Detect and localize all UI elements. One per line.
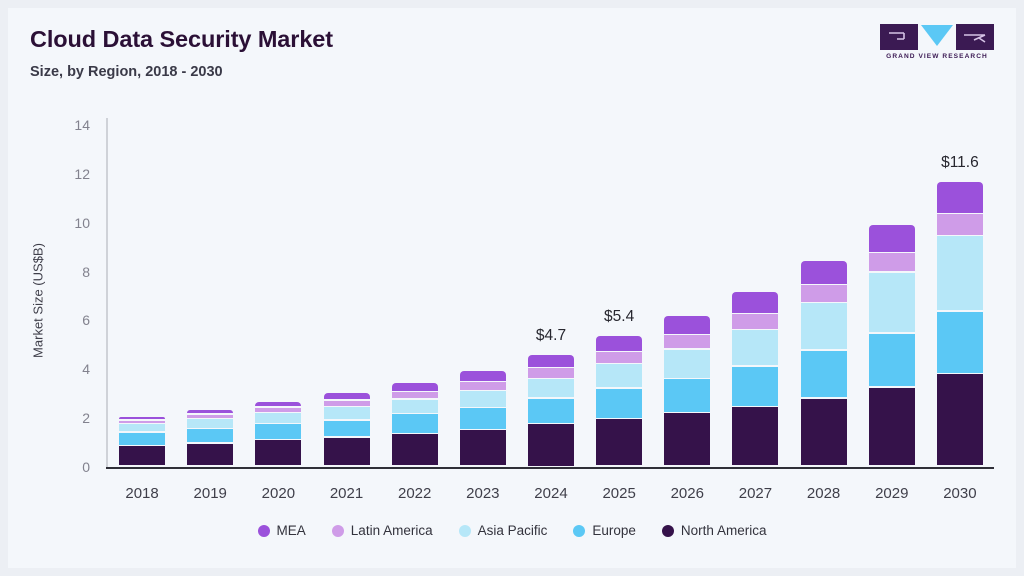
legend-item[interactable]: Latin America xyxy=(332,523,433,538)
bar-segment[interactable] xyxy=(937,182,983,212)
bar-segment[interactable] xyxy=(937,236,983,310)
x-tick-label: 2023 xyxy=(449,485,517,502)
bar-segment[interactable] xyxy=(937,214,983,234)
chart-plot-area: Market Size (US$B) 02468101214 201820192… xyxy=(8,8,1016,568)
bar-segment[interactable] xyxy=(392,434,438,465)
bar-segment[interactable] xyxy=(869,334,915,386)
x-axis-line xyxy=(106,467,994,469)
bar-total-label: $11.6 xyxy=(910,154,1010,172)
chart-card: Cloud Data Security Market Size, by Regi… xyxy=(8,8,1016,568)
bar-segment[interactable] xyxy=(732,407,778,465)
bar-segment[interactable] xyxy=(187,419,233,427)
bar-segment[interactable] xyxy=(119,433,165,445)
bar-stack[interactable] xyxy=(664,8,710,467)
bar-stack[interactable] xyxy=(255,8,301,467)
bar-stack[interactable] xyxy=(732,8,778,467)
bar-segment[interactable] xyxy=(596,352,642,363)
y-axis-label: Market Size (US$B) xyxy=(31,211,46,391)
x-tick-label: 2027 xyxy=(721,485,789,502)
x-tick-label: 2026 xyxy=(653,485,721,502)
legend-item[interactable]: MEA xyxy=(258,523,306,538)
bar-segment[interactable] xyxy=(255,424,301,438)
bar-segment[interactable] xyxy=(528,355,574,367)
y-tick-label: 6 xyxy=(56,312,90,328)
bar-segment[interactable] xyxy=(528,368,574,377)
bar-segment[interactable] xyxy=(187,429,233,442)
bar-segment[interactable] xyxy=(528,379,574,397)
bar-segment[interactable] xyxy=(801,303,847,349)
bar-segment[interactable] xyxy=(732,330,778,365)
bar-segment[interactable] xyxy=(255,440,301,465)
bar-segment[interactable] xyxy=(664,335,710,348)
bar-segment[interactable] xyxy=(732,292,778,312)
x-tick-label: 2021 xyxy=(312,485,380,502)
bar-segment[interactable] xyxy=(119,446,165,465)
bar-segment[interactable] xyxy=(255,413,301,422)
x-tick-label: 2029 xyxy=(858,485,926,502)
legend-swatch-icon xyxy=(258,525,270,537)
bar-segment[interactable] xyxy=(392,400,438,413)
bar-stack[interactable] xyxy=(460,8,506,467)
bar-segment[interactable] xyxy=(732,367,778,406)
bar-segment[interactable] xyxy=(119,424,165,431)
bar-segment[interactable] xyxy=(664,379,710,412)
bar-segment[interactable] xyxy=(801,261,847,284)
bar-segment[interactable] xyxy=(664,413,710,465)
legend-label: MEA xyxy=(277,523,306,538)
legend-item[interactable]: Europe xyxy=(573,523,636,538)
bar-segment[interactable] xyxy=(596,364,642,387)
bar-segment[interactable] xyxy=(732,314,778,328)
bar-segment[interactable] xyxy=(187,444,233,466)
bar-segment[interactable] xyxy=(392,392,438,398)
y-tick-label: 12 xyxy=(56,166,90,182)
bar-segment[interactable] xyxy=(937,374,983,465)
bar-segment[interactable] xyxy=(324,421,370,437)
x-tick-label: 2030 xyxy=(926,485,994,502)
bar-segment[interactable] xyxy=(664,316,710,334)
bar-segment[interactable] xyxy=(392,414,438,432)
legend-swatch-icon xyxy=(573,525,585,537)
bar-segment[interactable] xyxy=(324,393,370,399)
y-tick-label: 8 xyxy=(56,264,90,280)
y-tick-label: 4 xyxy=(56,361,90,377)
bar-segment[interactable] xyxy=(460,391,506,407)
bar-stack[interactable] xyxy=(596,8,642,467)
legend-item[interactable]: Asia Pacific xyxy=(459,523,548,538)
bar-segment[interactable] xyxy=(528,399,574,423)
bar-segment[interactable] xyxy=(801,285,847,302)
bar-segment[interactable] xyxy=(801,399,847,466)
bar-segment[interactable] xyxy=(255,408,301,412)
bar-segment[interactable] xyxy=(596,419,642,465)
bar-segment[interactable] xyxy=(119,417,165,419)
bar-stack[interactable] xyxy=(528,8,574,467)
y-tick-label: 10 xyxy=(56,215,90,231)
bar-segment[interactable] xyxy=(869,225,915,252)
bar-stack[interactable] xyxy=(187,8,233,467)
x-tick-label: 2018 xyxy=(108,485,176,502)
bar-stack[interactable] xyxy=(937,8,983,467)
bar-segment[interactable] xyxy=(869,253,915,271)
x-tick-label: 2019 xyxy=(176,485,244,502)
x-tick-label: 2025 xyxy=(585,485,653,502)
y-tick-label: 0 xyxy=(56,459,90,475)
bar-segment[interactable] xyxy=(324,438,370,466)
bar-total-label: $5.4 xyxy=(569,308,669,326)
bar-stack[interactable] xyxy=(869,8,915,467)
x-tick-label: 2028 xyxy=(790,485,858,502)
legend-item[interactable]: North America xyxy=(662,523,767,538)
bar-segment[interactable] xyxy=(937,312,983,373)
bar-segment[interactable] xyxy=(460,371,506,380)
bar-segment[interactable] xyxy=(869,273,915,333)
legend-swatch-icon xyxy=(459,525,471,537)
bar-segment[interactable] xyxy=(460,430,506,465)
bar-segment[interactable] xyxy=(460,382,506,389)
bar-stack[interactable] xyxy=(324,8,370,467)
y-tick-label: 14 xyxy=(56,117,90,133)
bar-segment[interactable] xyxy=(187,410,233,413)
chart-screenshot: Cloud Data Security Market Size, by Regi… xyxy=(0,0,1024,576)
bar-stack[interactable] xyxy=(119,8,165,467)
bar-stack[interactable] xyxy=(392,8,438,467)
x-tick-label: 2022 xyxy=(381,485,449,502)
bar-segment[interactable] xyxy=(801,351,847,397)
bar-segment[interactable] xyxy=(528,424,574,465)
legend-label: North America xyxy=(681,523,767,538)
bar-stack[interactable] xyxy=(801,8,847,467)
x-tick-label: 2020 xyxy=(244,485,312,502)
bar-segment[interactable] xyxy=(324,407,370,419)
legend-label: Latin America xyxy=(351,523,433,538)
y-axis-line xyxy=(106,118,108,469)
bar-segment[interactable] xyxy=(324,401,370,406)
bar-segment[interactable] xyxy=(187,415,233,418)
legend-label: Asia Pacific xyxy=(478,523,548,538)
bar-segment[interactable] xyxy=(596,336,642,350)
legend-swatch-icon xyxy=(332,525,344,537)
bar-segment[interactable] xyxy=(255,402,301,407)
y-axis-ticks: 02468101214 xyxy=(56,8,90,568)
legend-swatch-icon xyxy=(662,525,674,537)
bar-segment[interactable] xyxy=(119,421,165,423)
legend-label: Europe xyxy=(592,523,636,538)
bar-total-label: $4.7 xyxy=(501,327,601,345)
bar-segment[interactable] xyxy=(664,350,710,378)
y-tick-label: 2 xyxy=(56,410,90,426)
bar-segment[interactable] xyxy=(392,383,438,391)
bar-segment[interactable] xyxy=(596,389,642,418)
bar-segment[interactable] xyxy=(869,388,915,466)
bar-segment[interactable] xyxy=(460,408,506,428)
x-tick-label: 2024 xyxy=(517,485,585,502)
chart-legend: MEALatin AmericaAsia PacificEuropeNorth … xyxy=(8,523,1016,538)
